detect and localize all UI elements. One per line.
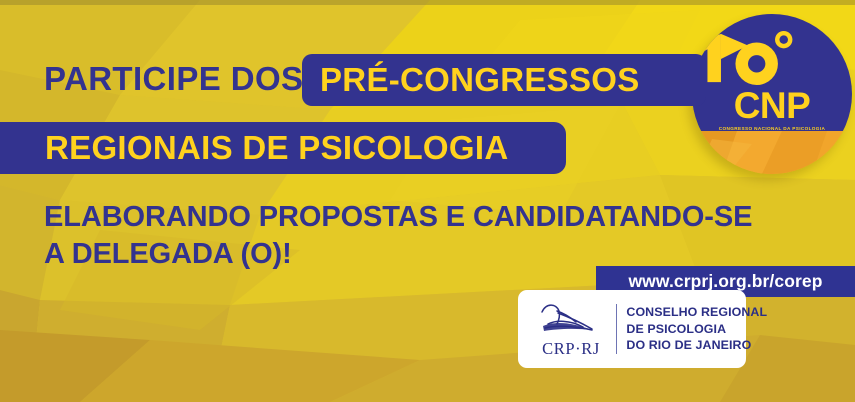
headline-band-pre-congressos: PRÉ-CONGRESSOS <box>302 54 706 106</box>
headline-line1-highlight: PRÉ-CONGRESSOS <box>320 61 640 99</box>
headline-line1-plain: PARTICIPE DOS <box>44 60 303 98</box>
headline-band-regionais: REGIONAIS DE PSICOLOGIA <box>0 122 566 174</box>
bird-wing-icon <box>536 301 606 341</box>
crp-rj-name-line1: CONSELHO REGIONAL <box>626 304 767 321</box>
crp-rj-logo-mark: CRP·RJ <box>518 301 614 357</box>
cnp-badge: CNP CONGRESSO NACIONAL DA PSICOLOGIA <box>692 14 852 174</box>
cnp-acronym: CNP <box>692 87 852 125</box>
cnp-logo-mark: CNP CONGRESSO NACIONAL DA PSICOLOGIA <box>692 30 852 132</box>
crp-rj-logo-card: CRP·RJ CONSELHO REGIONAL DE PSICOLOGIA D… <box>518 290 746 368</box>
crp-rj-name-line2: DE PSICOLOGIA <box>626 321 767 338</box>
promotional-banner: CNP CONGRESSO NACIONAL DA PSICOLOGIA PAR… <box>0 0 855 402</box>
top-edge-strip <box>0 0 855 5</box>
headline-line2-highlight: REGIONAIS DE PSICOLOGIA <box>45 129 508 167</box>
cnp-ten-icon <box>692 30 798 86</box>
crp-rj-acronym: CRP·RJ <box>528 340 614 357</box>
subheadline-line1: ELABORANDO PROPOSTAS E CANDIDATANDO-SE <box>44 199 752 236</box>
cnp-subtitle: CONGRESSO NACIONAL DA PSICOLOGIA <box>692 125 852 132</box>
logo-divider <box>616 304 617 354</box>
subheadline: ELABORANDO PROPOSTAS E CANDIDATANDO-SE A… <box>44 199 752 273</box>
crp-rj-name-line3: DO RIO DE JANEIRO <box>626 337 767 354</box>
crp-rj-full-name: CONSELHO REGIONAL DE PSICOLOGIA DO RIO D… <box>626 304 767 354</box>
